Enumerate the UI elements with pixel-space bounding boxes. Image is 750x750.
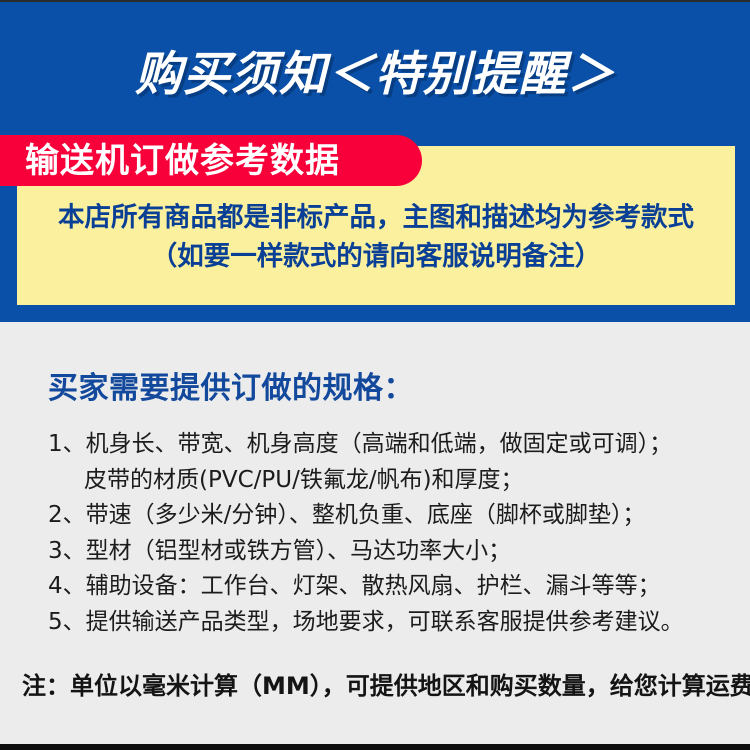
list-item: 4、辅助设备：工作台、灯架、散热风扇、护栏、漏斗等等；	[48, 569, 738, 605]
list-item: 2、带速（多少米/分钟）、整机负重、底座（脚杯或脚垫）；	[48, 498, 738, 534]
notice-line-1: 本店所有商品都是非标产品，主图和描述均为参考款式	[17, 198, 735, 237]
list-item: 皮带的材质(PVC/PU/铁氟龙/帆布)和厚度；	[48, 463, 738, 499]
page-title: 购买须知＜特别提醒＞	[0, 44, 750, 106]
list-item: 3、型材（铝型材或铁方管）、马达功率大小；	[48, 534, 738, 570]
spec-heading: 买家需要提供订做的规格：	[48, 370, 414, 408]
notice-card-text: 本店所有商品都是非标产品，主图和描述均为参考款式 （如要一样款式的请向客服说明备…	[17, 198, 735, 276]
list-item: 1、机身长、带宽、机身高度（高端和低端，做固定或可调）；	[48, 427, 738, 463]
promo-page: 购买须知＜特别提醒＞ 本店所有商品都是非标产品，主图和描述均为参考款式 （如要一…	[0, 0, 750, 750]
spec-section: 买家需要提供订做的规格： 1、机身长、带宽、机身高度（高端和低端，做固定或可调）…	[0, 322, 750, 744]
bottom-divider	[0, 744, 750, 750]
list-item: 5、提供输送产品类型，场地要求，可联系客服提供参考建议。	[48, 605, 738, 641]
notice-line-2: （如要一样款式的请向客服说明备注）	[17, 237, 735, 276]
spec-note: 注：单位以毫米计算（MM），可提供地区和购买数量，给您计算运费。	[22, 670, 750, 702]
spec-list: 1、机身长、带宽、机身高度（高端和低端，做固定或可调）； 皮带的材质(PVC/P…	[48, 427, 738, 640]
section-badge-label: 输送机订做参考数据	[25, 141, 340, 181]
